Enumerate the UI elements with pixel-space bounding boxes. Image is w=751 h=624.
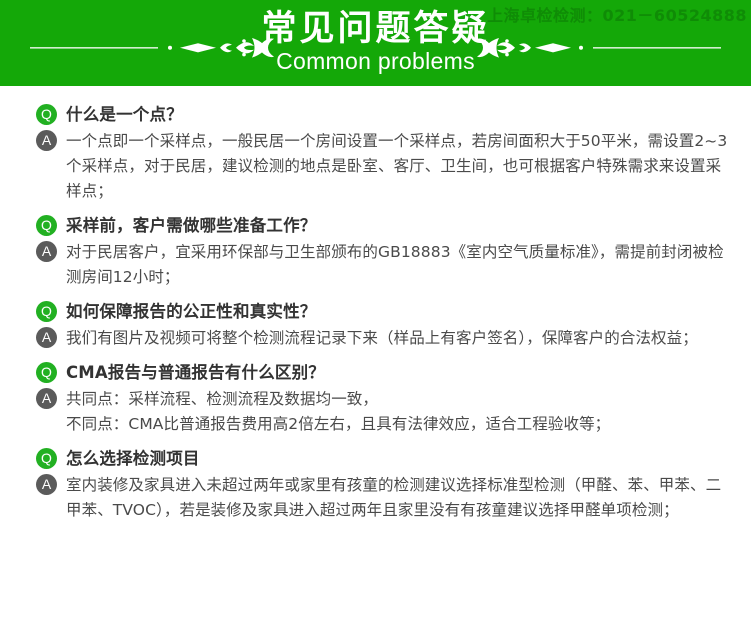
- faq-answer-text: 室内装修及家具进入未超过两年或家里有孩童的检测建议选择标准型检测（甲醛、苯、甲苯…: [66, 473, 733, 523]
- answer-badge-icon: A: [36, 388, 57, 409]
- faq-answer-row: A 我们有图片及视频可将整个检测流程记录下来（样品上有客户签名），保障客户的合法…: [66, 326, 733, 351]
- question-badge-icon: Q: [36, 301, 57, 322]
- faq-item: Q CMA报告与普通报告有什么区别？ A 共同点：采样流程、检测流程及数据均一致…: [0, 362, 751, 437]
- faq-item: Q 怎么选择检测项目 A 室内装修及家具进入未超过两年或家里有孩童的检测建议选择…: [0, 448, 751, 523]
- ornament-flourish-left-icon: [30, 36, 275, 60]
- faq-answer-text: 共同点：采样流程、检测流程及数据均一致， 不同点：CMA比普通报告费用高2倍左右…: [66, 387, 733, 437]
- faq-item: Q 什么是一个点？ A 一个点即一个采样点，一般民居一个房间设置一个采样点，若房…: [0, 104, 751, 204]
- faq-answer-row: A 对于民居客户，宜采用环保部与卫生部颁布的GB18883《室内空气质量标准》，…: [66, 240, 733, 290]
- faq-question-row: Q 什么是一个点？: [66, 104, 733, 127]
- faq-question-row: Q 怎么选择检测项目: [66, 448, 733, 471]
- faq-question-text: 怎么选择检测项目: [66, 448, 733, 470]
- page-subtitle: Common problems: [261, 48, 489, 74]
- faq-answer-text: 我们有图片及视频可将整个检测流程记录下来（样品上有客户签名），保障客户的合法权益…: [66, 326, 733, 351]
- faq-question-row: Q CMA报告与普通报告有什么区别？: [66, 362, 733, 385]
- faq-question-text: 什么是一个点？: [66, 104, 733, 126]
- answer-badge-icon: A: [36, 241, 57, 262]
- faq-question-row: Q 如何保障报告的公正性和真实性？: [66, 301, 733, 324]
- faq-answer-row: A 室内装修及家具进入未超过两年或家里有孩童的检测建议选择标准型检测（甲醛、苯、…: [66, 473, 733, 523]
- faq-question-text: CMA报告与普通报告有什么区别？: [66, 362, 733, 384]
- faq-answer-text: 一个点即一个采样点，一般民居一个房间设置一个采样点，若房间面积大于50平米，需设…: [66, 129, 733, 204]
- faq-list: Q 什么是一个点？ A 一个点即一个采样点，一般民居一个房间设置一个采样点，若房…: [0, 86, 751, 523]
- question-badge-icon: Q: [36, 362, 57, 383]
- faq-question-text: 采样前，客户需做哪些准备工作？: [66, 215, 733, 237]
- question-badge-icon: Q: [36, 215, 57, 236]
- answer-badge-icon: A: [36, 327, 57, 348]
- faq-answer-text: 对于民居客户，宜采用环保部与卫生部颁布的GB18883《室内空气质量标准》，需提…: [66, 240, 733, 290]
- faq-answer-row: A 一个点即一个采样点，一般民居一个房间设置一个采样点，若房间面积大于50平米，…: [66, 129, 733, 204]
- faq-question-text: 如何保障报告的公正性和真实性？: [66, 301, 733, 323]
- answer-badge-icon: A: [36, 130, 57, 151]
- faq-answer-row: A 共同点：采样流程、检测流程及数据均一致， 不同点：CMA比普通报告费用高2倍…: [66, 387, 733, 437]
- faq-item: Q 采样前，客户需做哪些准备工作？ A 对于民居客户，宜采用环保部与卫生部颁布的…: [0, 215, 751, 290]
- question-badge-icon: Q: [36, 448, 57, 469]
- page-title: 常见问题答疑: [261, 11, 489, 48]
- faq-question-row: Q 采样前，客户需做哪些准备工作？: [66, 215, 733, 238]
- ornament-flourish-right-icon: [476, 36, 721, 60]
- faq-item: Q 如何保障报告的公正性和真实性？ A 我们有图片及视频可将整个检测流程记录下来…: [0, 301, 751, 351]
- page-header-banner: 上海卓检检测：021－60524888 常见问题答疑 Common proble…: [0, 0, 751, 86]
- question-badge-icon: Q: [36, 104, 57, 125]
- answer-badge-icon: A: [36, 474, 57, 495]
